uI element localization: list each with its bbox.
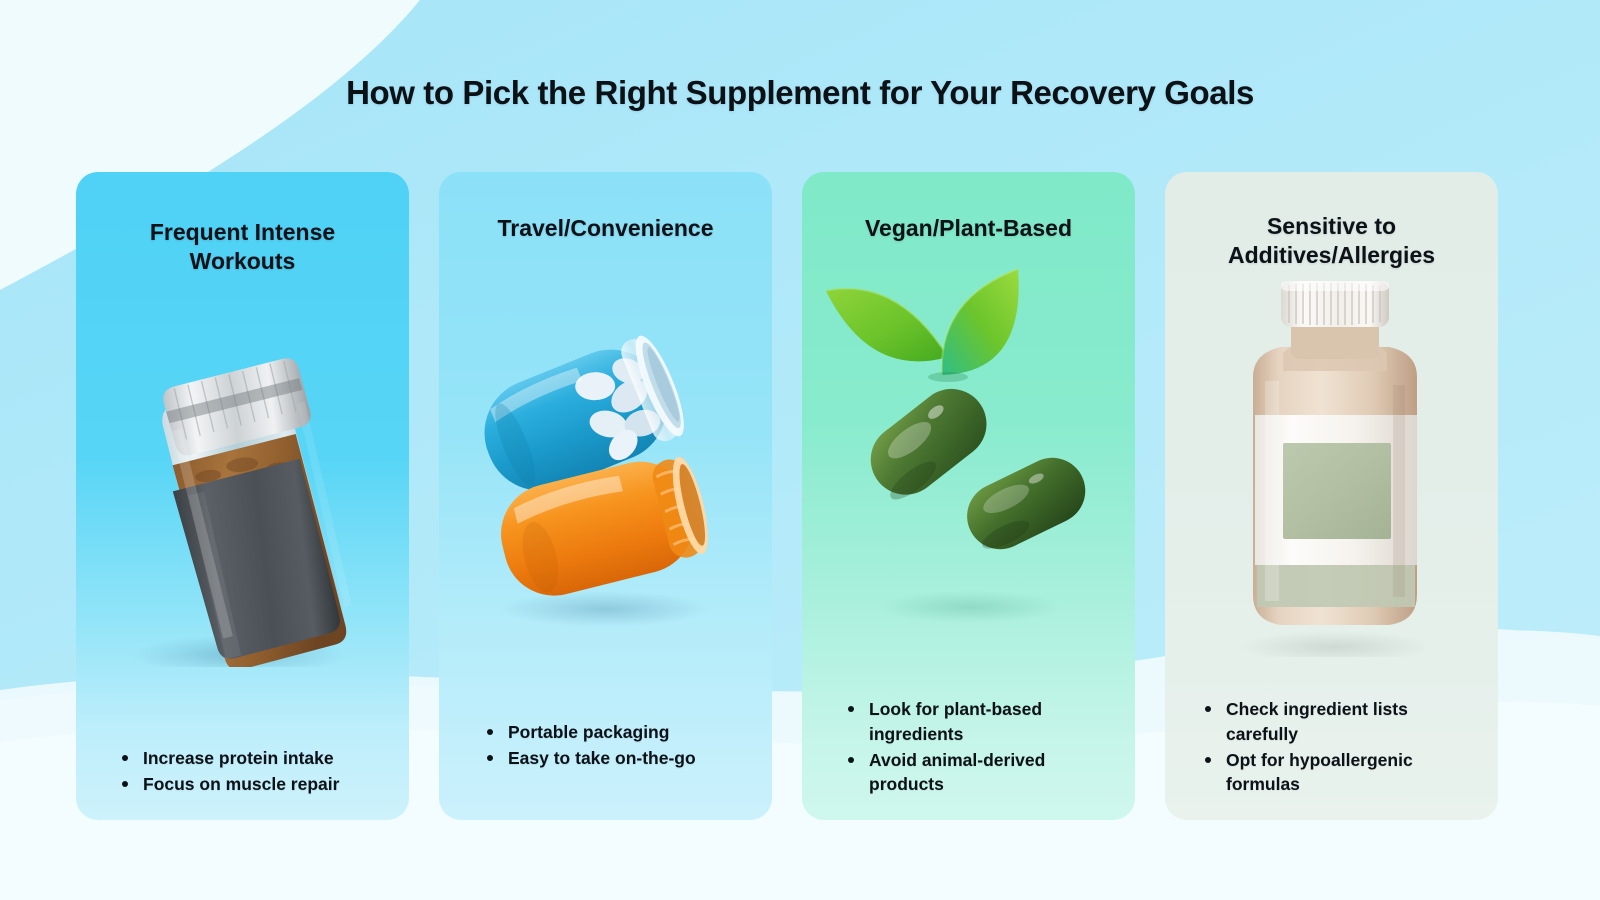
page-title: How to Pick the Right Supplement for You… (0, 74, 1600, 112)
list-item: Check ingredient lists carefully (1203, 697, 1470, 745)
card-bullet-list: Check ingredient lists carefully Opt for… (1165, 697, 1498, 820)
card-illustration-leaves-capsules (802, 243, 1135, 697)
list-item: Look for plant-based ingredients (846, 697, 1107, 745)
list-item: Portable packaging (485, 720, 744, 744)
list-item: Opt for hypoallergenic formulas (1203, 748, 1470, 796)
list-item: Easy to take on-the-go (485, 746, 744, 770)
list-item: Focus on muscle repair (120, 772, 381, 796)
card-travel-convenience[interactable]: Travel/Convenience (439, 172, 772, 820)
card-illustration-pill-bottles (439, 243, 772, 719)
card-bullet-list: Look for plant-based ingredients Avoid a… (802, 697, 1135, 820)
card-vegan-plant-based[interactable]: Vegan/Plant-Based (802, 172, 1135, 820)
list-item: Avoid animal-derived products (846, 748, 1107, 796)
card-frequent-intense-workouts[interactable]: Frequent Intense Workouts (76, 172, 409, 820)
card-sensitive-additives-allergies[interactable]: Sensitive to Additives/Allergies (1165, 172, 1498, 820)
card-illustration-supplement-bottle (1165, 271, 1498, 698)
card-row: Frequent Intense Workouts (76, 172, 1528, 820)
card-illustration-protein-jar (76, 277, 409, 746)
card-bullet-list: Portable packaging Easy to take on-the-g… (439, 720, 772, 820)
list-item: Increase protein intake (120, 746, 381, 770)
card-bullet-list: Increase protein intake Focus on muscle … (76, 746, 409, 820)
